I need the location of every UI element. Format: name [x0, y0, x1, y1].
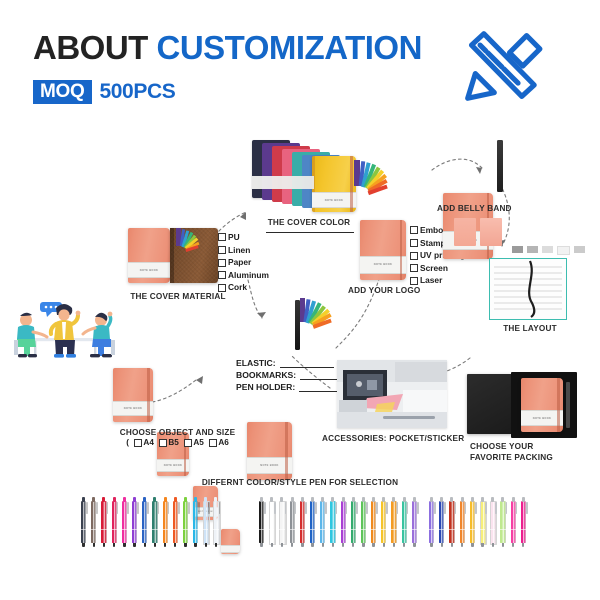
- checkbox-a6[interactable]: [209, 439, 217, 447]
- pen-tip: [413, 543, 415, 547]
- pen-tip: [184, 543, 186, 547]
- pen-swatch[interactable]: [510, 497, 518, 547]
- pen-grip: [300, 529, 305, 530]
- pen-swatch[interactable]: [428, 497, 436, 547]
- notebook-label: NOTE BOOK: [374, 263, 392, 266]
- pen-plunger: [194, 497, 197, 502]
- pen-plunger: [440, 497, 443, 502]
- pen-clip: [325, 502, 327, 514]
- pen-swatch[interactable]: [489, 497, 497, 547]
- pen-row-1: [80, 497, 260, 549]
- pen-clip: [397, 502, 399, 514]
- moq-badge: MOQ: [33, 80, 92, 104]
- pen-body: [511, 501, 516, 543]
- pen-grip: [101, 529, 106, 530]
- pen-clip: [465, 502, 467, 514]
- pen-tip: [174, 543, 176, 547]
- option-paper[interactable]: Paper: [218, 256, 269, 269]
- pen-tip: [205, 543, 207, 547]
- pen-tip: [123, 543, 125, 547]
- accessories-photo: [337, 360, 447, 428]
- infographic-canvas: ABOUT CUSTOMIZATION MOQ 500PCS: [0, 0, 600, 600]
- pen-plunger: [331, 497, 334, 502]
- option-label: A5: [193, 438, 203, 447]
- pen-swatch[interactable]: [380, 497, 388, 547]
- checkbox-screen[interactable]: [410, 264, 418, 272]
- belly-band-sample-1: [454, 218, 476, 246]
- option-a4[interactable]: A4: [134, 438, 154, 447]
- pen-plunger: [430, 497, 433, 502]
- pen-tip: [194, 543, 196, 547]
- pen-swatch[interactable]: [151, 497, 159, 547]
- pen-body: [290, 501, 295, 543]
- pen-tip: [82, 543, 84, 547]
- pen-swatch[interactable]: [212, 497, 220, 547]
- pen-grip: [402, 529, 407, 530]
- option-label: Linen: [228, 244, 250, 257]
- pen-plunger: [133, 497, 136, 502]
- pen-plunger: [491, 497, 494, 502]
- pen-swatch[interactable]: [340, 497, 348, 547]
- pen-plunger: [512, 497, 515, 502]
- pen-clip: [208, 502, 210, 514]
- material-swatch-fan: [176, 228, 202, 256]
- option-label: PU: [228, 231, 240, 244]
- pen-swatch[interactable]: [319, 497, 327, 547]
- pen-swatch[interactable]: [350, 497, 358, 547]
- pen-plunger: [92, 497, 95, 502]
- checkbox-b5[interactable]: [159, 439, 167, 447]
- page-title: ABOUT CUSTOMIZATION: [33, 29, 422, 67]
- pen-tip: [301, 543, 303, 547]
- pen-grip: [290, 529, 295, 530]
- checkbox-aluminum[interactable]: [218, 271, 226, 279]
- moq-row: MOQ 500PCS: [33, 80, 175, 104]
- pen-clip: [346, 502, 348, 514]
- size-caption: CHOOSE OBJECT AND SIZE: [100, 428, 255, 437]
- pen-grip: [439, 529, 444, 530]
- pen-tip: [311, 543, 313, 547]
- pen-clip: [376, 502, 378, 514]
- pen-plunger: [372, 497, 375, 502]
- pen-clip: [506, 502, 508, 514]
- pen-grip: [521, 529, 526, 530]
- pen-plunger: [382, 497, 385, 502]
- pen-plunger: [291, 497, 294, 502]
- pen-plunger: [352, 497, 355, 502]
- pen-body: [101, 501, 106, 543]
- pen-swatch[interactable]: [370, 497, 378, 547]
- field-label: BOOKMARKS:: [236, 370, 296, 380]
- checkbox-stamping[interactable]: [410, 239, 418, 247]
- pen-clip: [137, 502, 139, 514]
- layout-caption: THE LAYOUT: [500, 324, 560, 333]
- option-pu[interactable]: PU: [218, 231, 269, 244]
- belly-band-caption: ADD BELLY BAND: [437, 204, 509, 213]
- pen-plunger: [471, 497, 474, 502]
- pen-tip: [481, 543, 483, 547]
- pen-grip: [142, 529, 147, 530]
- option-b5[interactable]: B5: [159, 438, 179, 447]
- pen-clip: [295, 502, 297, 514]
- pen-grip: [183, 529, 188, 530]
- pen-swatch[interactable]: [111, 497, 119, 547]
- pen-tip: [164, 543, 166, 547]
- pen-swatch[interactable]: [192, 497, 200, 547]
- pen-grip: [213, 529, 218, 530]
- moq-quantity: 500PCS: [100, 80, 176, 104]
- pen-clip: [264, 502, 266, 514]
- pen-grip: [112, 529, 117, 530]
- pen-body: [449, 501, 454, 543]
- pen-grip: [351, 529, 356, 530]
- notebook-label: NOTE BOOK: [140, 269, 158, 272]
- checkbox-paper[interactable]: [218, 259, 226, 267]
- pen-clip: [434, 502, 436, 514]
- pen-plunger: [280, 497, 283, 502]
- pen-plunger: [113, 497, 116, 502]
- pen-clip: [188, 502, 190, 514]
- notebook-label: NOTE BOOK: [533, 417, 551, 420]
- pen-clip: [417, 502, 419, 514]
- cover-color-caption: THE COVER COLOR: [244, 218, 374, 227]
- pen-swatch[interactable]: [520, 497, 528, 547]
- pen-tip: [260, 543, 262, 547]
- size-prefix: (: [126, 438, 129, 447]
- checkbox-linen[interactable]: [218, 246, 226, 254]
- option-a6[interactable]: A6: [209, 438, 229, 447]
- pen-clip: [516, 502, 518, 514]
- pen-clip: [315, 502, 317, 514]
- pen-plunger: [321, 497, 324, 502]
- pen-grip: [81, 529, 86, 530]
- pen-tip: [281, 543, 283, 547]
- pen-plunger: [342, 497, 345, 502]
- color-swatch-fan: [354, 160, 392, 200]
- pen-swatch[interactable]: [100, 497, 108, 547]
- pen-swatch[interactable]: [289, 497, 297, 547]
- add-logo-caption: ADD YOUR LOGO: [348, 286, 420, 295]
- packing-caption-line2: FAVORITE PACKING: [470, 453, 580, 464]
- pen-plunger: [362, 497, 365, 502]
- option-label: Aluminum: [228, 269, 269, 282]
- pen-plunger: [461, 497, 464, 502]
- pen-swatch[interactable]: [172, 497, 180, 547]
- pen-swatch[interactable]: [268, 497, 276, 547]
- option-label: Screen: [420, 262, 448, 275]
- pen-plunger: [123, 497, 126, 502]
- pen-tip: [441, 543, 443, 547]
- elastic-input-line[interactable]: [280, 367, 334, 368]
- pen-clip: [158, 502, 160, 514]
- pen-tip: [372, 543, 374, 547]
- center-swatch-fan: [300, 298, 334, 334]
- pen-tip: [502, 543, 504, 547]
- pen-swatch[interactable]: [469, 497, 477, 547]
- option-aluminum[interactable]: Aluminum: [218, 269, 269, 282]
- pen-plunger: [184, 497, 187, 502]
- pen-tip: [332, 543, 334, 547]
- pen-swatch[interactable]: [202, 497, 210, 547]
- pen-grip: [310, 529, 315, 530]
- pen-swatch[interactable]: [141, 497, 149, 547]
- pen-clip: [386, 502, 388, 514]
- pen-plunger: [260, 497, 263, 502]
- pen-tip: [144, 543, 146, 547]
- pen-body: [500, 501, 505, 543]
- pen-plunger: [143, 497, 146, 502]
- option-linen[interactable]: Linen: [218, 244, 269, 257]
- accessories-caption: ACCESSORIES: POCKET/STICKER: [322, 434, 462, 443]
- pen-grip: [132, 529, 137, 530]
- pen-swatch[interactable]: [80, 497, 88, 547]
- pen-swatch[interactable]: [411, 497, 419, 547]
- pen-grip: [500, 529, 505, 530]
- pen-grip: [361, 529, 366, 530]
- pen-tip: [512, 543, 514, 547]
- title-word-customization: CUSTOMIZATION: [157, 29, 422, 66]
- pen-plunger: [501, 497, 504, 502]
- pen-clip: [96, 502, 98, 514]
- pen-clip: [366, 502, 368, 514]
- pen-swatch[interactable]: [360, 497, 368, 547]
- checkbox-uv-printing[interactable]: [410, 252, 418, 260]
- pen-clip: [107, 502, 109, 514]
- pen-grip: [152, 529, 157, 530]
- pen-grip: [371, 529, 376, 530]
- pen-plunger: [153, 497, 156, 502]
- pen-grip: [203, 529, 208, 530]
- option-cork[interactable]: Cork: [218, 281, 269, 294]
- pen-plunger: [522, 497, 525, 502]
- pen-grip: [412, 529, 417, 530]
- pen-swatch[interactable]: [329, 497, 337, 547]
- pen-grip: [449, 529, 454, 530]
- pen-grip: [122, 529, 127, 530]
- pen-plunger: [311, 497, 314, 502]
- size-options: ( A4 B5 A5 A6: [100, 438, 255, 447]
- pen-tip: [393, 543, 395, 547]
- pen-tip: [271, 543, 273, 547]
- pen-tip: [383, 543, 385, 547]
- pen-swatch[interactable]: [90, 497, 98, 547]
- pen-row-3: [428, 497, 538, 549]
- pen-row-2: [258, 497, 436, 549]
- pen-plunger: [413, 497, 416, 502]
- packing-caption: CHOOSE YOUR FAVORITE PACKING: [470, 442, 580, 464]
- pen-clip: [178, 502, 180, 514]
- pen-swatch[interactable]: [499, 497, 507, 547]
- pen-clip: [147, 502, 149, 514]
- option-label: A4: [143, 438, 153, 447]
- pen-clip: [274, 502, 276, 514]
- pen-grip: [511, 529, 516, 530]
- pen-tip: [352, 543, 354, 547]
- pen-tip: [291, 543, 293, 547]
- pen-plunger: [270, 497, 273, 502]
- pen-grip: [193, 529, 198, 530]
- checkbox-laser[interactable]: [410, 277, 418, 285]
- checkbox-cork[interactable]: [218, 284, 226, 292]
- notebook-label: NOTE BOOK: [164, 464, 182, 467]
- ruler-pencil-icon: [452, 28, 548, 104]
- pen-plunger: [403, 497, 406, 502]
- pen-grip: [460, 529, 465, 530]
- option-label: Paper: [228, 256, 251, 269]
- belly-band-sample-2: [480, 218, 502, 246]
- packing-box: NOTE BOOK: [467, 372, 577, 438]
- pen-clip: [285, 502, 287, 514]
- pen-plunger: [204, 497, 207, 502]
- pen-tip: [403, 543, 405, 547]
- pen-grip: [381, 529, 386, 530]
- pen-body: [112, 501, 117, 543]
- size-notebooks: NOTE BOOK NOTE BOOK NOTE BOOK: [113, 368, 243, 424]
- pen-swatch[interactable]: [258, 497, 266, 547]
- black-pen: [497, 140, 503, 192]
- field-label: PEN HOLDER:: [236, 382, 295, 392]
- pen-clip: [455, 502, 457, 514]
- checkbox-pu[interactable]: [218, 233, 226, 241]
- pen-plunger: [102, 497, 105, 502]
- option-label: B5: [168, 438, 178, 447]
- pen-plunger: [174, 497, 177, 502]
- pen-clip: [444, 502, 446, 514]
- pen-tip: [471, 543, 473, 547]
- pen-swatch[interactable]: [278, 497, 286, 547]
- notebook-label: NOTE BOOK: [260, 464, 278, 467]
- notebook-label: NOTE BOOK: [124, 407, 142, 410]
- pen-swatch[interactable]: [121, 497, 129, 547]
- pen-grip: [320, 529, 325, 530]
- pens-caption: DIFFERNT COLOR/STYLE PEN FOR SELECTION: [150, 478, 450, 487]
- pen-tip: [113, 543, 115, 547]
- checkbox-emboss[interactable]: [410, 226, 418, 234]
- cover-material-options: PU Linen Paper Aluminum Cork: [218, 231, 269, 294]
- features-fields: ELASTIC: BOOKMARKS: PEN HOLDER:: [236, 358, 348, 394]
- pen-tip: [133, 543, 135, 547]
- pen-swatch[interactable]: [182, 497, 190, 547]
- cover-color-underline: [266, 232, 354, 233]
- pen-grip: [341, 529, 346, 530]
- option-a5[interactable]: A5: [184, 438, 204, 447]
- pen-plunger: [450, 497, 453, 502]
- pen-swatch[interactable]: [390, 497, 398, 547]
- pen-plunger: [164, 497, 167, 502]
- packing-caption-line1: CHOOSE YOUR: [470, 442, 580, 453]
- checkbox-a5[interactable]: [184, 439, 192, 447]
- pen-plunger: [82, 497, 85, 502]
- option-label: Cork: [228, 281, 247, 294]
- pen-grip: [490, 529, 495, 530]
- pen-clip: [475, 502, 477, 514]
- notebook-label: NOTE BOOK: [325, 199, 343, 202]
- pen-clip: [117, 502, 119, 514]
- pen-grip: [330, 529, 335, 530]
- pen-tip: [522, 543, 524, 547]
- option-screen[interactable]: Screen: [410, 262, 465, 275]
- pen-grip: [391, 529, 396, 530]
- pen-body: [330, 501, 335, 543]
- pen-grip: [259, 529, 264, 530]
- pen-grip: [269, 529, 274, 530]
- pen-tip: [342, 543, 344, 547]
- pen-plunger: [301, 497, 304, 502]
- pen-swatch[interactable]: [479, 497, 487, 547]
- pen-clip: [356, 502, 358, 514]
- pen-tip: [362, 543, 364, 547]
- pen-grip: [429, 529, 434, 530]
- field-bookmarks: BOOKMARKS:: [236, 370, 348, 380]
- pen-clip: [168, 502, 170, 514]
- pen-grip: [91, 529, 96, 530]
- pen-swatch[interactable]: [438, 497, 446, 547]
- option-label: A6: [218, 438, 228, 447]
- pen-tip: [461, 543, 463, 547]
- pen-tip: [154, 543, 156, 547]
- pen-tip: [322, 543, 324, 547]
- pen-tip: [492, 543, 494, 547]
- pen-tip: [93, 543, 95, 547]
- paper-type-swatches: [512, 246, 585, 255]
- pen-plunger: [481, 497, 484, 502]
- field-pen-holder: PEN HOLDER:: [236, 382, 348, 392]
- pen-body: [341, 501, 346, 543]
- title-word-about: ABOUT: [33, 29, 148, 66]
- pen-swatch[interactable]: [459, 497, 467, 547]
- pen-swatch[interactable]: [309, 497, 317, 547]
- pen-swatch[interactable]: [448, 497, 456, 547]
- pen-clip: [219, 502, 221, 514]
- pen-tip: [451, 543, 453, 547]
- pen-swatch[interactable]: [299, 497, 307, 547]
- pen-swatch[interactable]: [162, 497, 170, 547]
- header: ABOUT CUSTOMIZATION MOQ 500PCS: [0, 0, 600, 120]
- pen-clip: [86, 502, 88, 514]
- pen-body: [460, 501, 465, 543]
- pen-body: [391, 501, 396, 543]
- logo-notebook: NOTE BOOK: [360, 220, 406, 280]
- pen-grip: [470, 529, 475, 530]
- pen-body: [163, 501, 168, 543]
- option-label: Laser: [420, 274, 442, 287]
- pen-clip: [485, 502, 487, 514]
- pen-clip: [198, 502, 200, 514]
- pen-grip: [173, 529, 178, 530]
- layout-preview: [489, 258, 567, 320]
- pen-swatch[interactable]: [401, 497, 409, 547]
- pen-body: [152, 501, 157, 543]
- pen-clip: [407, 502, 409, 514]
- pen-grip: [480, 529, 485, 530]
- pen-tip: [103, 543, 105, 547]
- field-elastic: ELASTIC:: [236, 358, 348, 368]
- pen-clip: [127, 502, 129, 514]
- checkbox-a4[interactable]: [134, 439, 142, 447]
- cover-color-stack: NOTE BOOK: [240, 138, 375, 208]
- pen-clip: [336, 502, 338, 514]
- pen-swatch[interactable]: [131, 497, 139, 547]
- pen-clip: [526, 502, 528, 514]
- pen-grip: [279, 529, 284, 530]
- pen-tip: [430, 543, 432, 547]
- pen-clip: [305, 502, 307, 514]
- meeting-illustration: [6, 282, 124, 368]
- pen-clip: [495, 502, 497, 514]
- pen-tip: [215, 543, 217, 547]
- field-label: ELASTIC:: [236, 358, 276, 368]
- pen-grip: [163, 529, 168, 530]
